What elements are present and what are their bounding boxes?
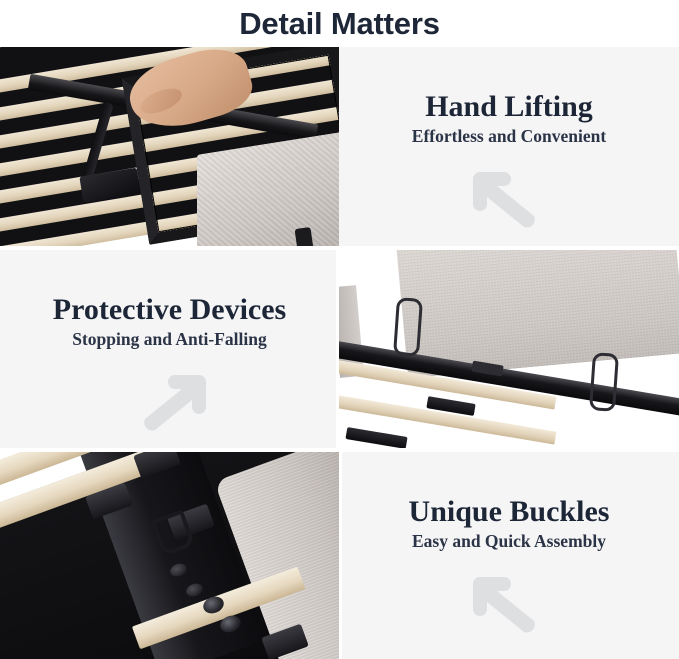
- title-bar: Detail Matters: [0, 0, 679, 47]
- photo-unique-buckles: [0, 452, 339, 659]
- wire-hook-stopper: [393, 297, 423, 357]
- panel-subtitle: Effortless and Convenient: [412, 126, 606, 147]
- photo-hand-lifting: [0, 47, 339, 250]
- panel-hand-lifting: Hand Lifting Effortless and Convenient: [339, 47, 679, 250]
- panel-heading: Hand Lifting: [425, 91, 593, 123]
- arrow-up-left-icon: [472, 569, 546, 635]
- panel-subtitle: Stopping and Anti-Falling: [72, 329, 267, 350]
- arrow-up-left-icon: [472, 164, 546, 230]
- protective-devices-illustration: [339, 250, 679, 448]
- unique-buckles-illustration: [0, 452, 339, 659]
- hand-lifting-illustration: [0, 47, 339, 246]
- photo-protective-devices: [339, 250, 679, 452]
- frame-foot: [294, 227, 313, 250]
- wire-hook-stopper: [589, 352, 619, 412]
- panel-text: Protective Devices Stopping and Anti-Fal…: [0, 250, 339, 448]
- panel-unique-buckles: Unique Buckles Easy and Quick Assembly: [339, 452, 679, 659]
- panel-subtitle: Easy and Quick Assembly: [412, 531, 606, 552]
- panel-protective-devices: Protective Devices Stopping and Anti-Fal…: [0, 250, 339, 452]
- feature-grid: Hand Lifting Effortless and Convenient P…: [0, 47, 679, 659]
- panel-text: Hand Lifting Effortless and Convenient: [339, 47, 679, 246]
- detail-matters-infographic: Detail Matters: [0, 0, 679, 659]
- panel-heading: Protective Devices: [53, 294, 286, 326]
- page-title: Detail Matters: [239, 8, 440, 39]
- arrow-up-right-icon: [133, 367, 207, 433]
- panel-text: Unique Buckles Easy and Quick Assembly: [339, 452, 679, 659]
- panel-heading: Unique Buckles: [409, 496, 610, 528]
